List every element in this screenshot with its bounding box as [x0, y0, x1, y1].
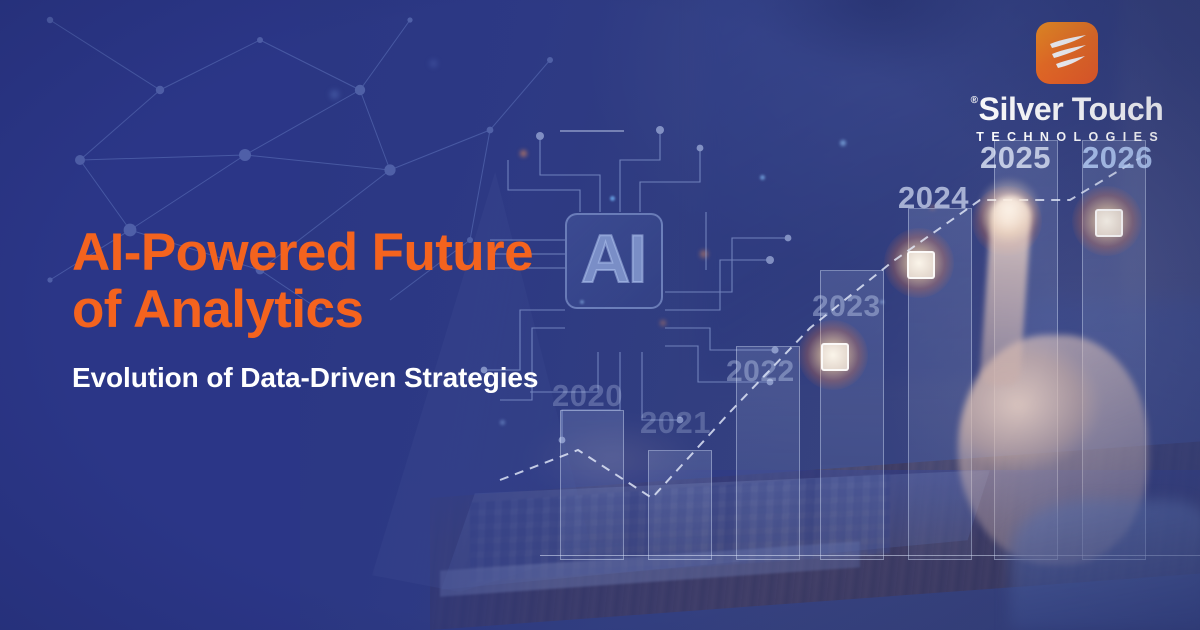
- bar-2020: [560, 130, 624, 132]
- fingertip-glow: [978, 178, 1040, 240]
- page-subtitle: Evolution of Data-Driven Strategies: [72, 362, 612, 394]
- title-line-2: of Analytics: [72, 280, 363, 339]
- page-title: AI-Powered Future of Analytics: [72, 224, 612, 338]
- brand-logo[interactable]: ® Silver Touch TECHNOLOGIES: [942, 22, 1192, 144]
- brand-name: ® Silver Touch: [971, 91, 1164, 128]
- brand-name-text: Silver Touch: [979, 91, 1164, 128]
- year-label-2022: 2022: [726, 355, 795, 389]
- year-label-2021: 2021: [640, 405, 711, 441]
- year-label-2024: 2024: [898, 180, 969, 216]
- brand-tagline: TECHNOLOGIES: [969, 130, 1165, 144]
- year-label-2023: 2023: [812, 290, 881, 324]
- banner-root: AI 2020 2021 2022 2023 2024 2025 2026 AI…: [0, 0, 1200, 630]
- year-label-2026: 2026: [1082, 140, 1153, 176]
- year-label-2025: 2025: [980, 140, 1051, 176]
- shirt-cuff: [1010, 500, 1200, 630]
- silver-touch-mark-icon: [1036, 22, 1098, 84]
- headline-block: AI-Powered Future of Analytics Evolution…: [72, 224, 612, 394]
- registered-mark: ®: [971, 96, 978, 106]
- title-line-1: AI-Powered Future: [72, 223, 533, 282]
